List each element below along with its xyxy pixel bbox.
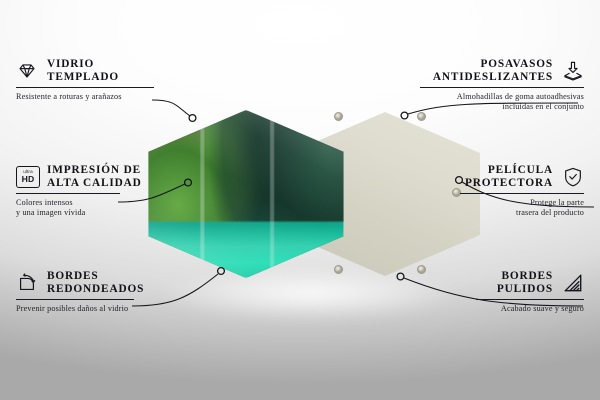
feature-rounded-edges[interactable]: BORDESREDONDEADOS Prevenir posibles daño… <box>16 270 134 314</box>
feature-head: BORDESREDONDEADOS <box>16 270 134 295</box>
badge-hd-label: HD <box>22 175 35 184</box>
feature-desc: Prevenir posibles daños al vidrio <box>16 304 134 314</box>
feature-desc: Colores intensos y una imagen vívida <box>16 198 120 218</box>
glass-print-surface <box>148 110 344 278</box>
shield-check-icon <box>562 166 584 188</box>
feature-desc: Protege la parte trasera del producto <box>460 198 584 218</box>
feature-desc: Resistente a roturas y arañazos <box>16 92 154 102</box>
product-front-panel <box>148 110 344 278</box>
feature-title: BORDESREDONDEADOS <box>47 270 144 295</box>
feature-nonslip-coasters[interactable]: POSAVASOSANTIDESLIZANTES Almohadillas de… <box>420 58 584 113</box>
feature-title: VIDRIOTEMPLADO <box>47 58 119 83</box>
lagoon-photo <box>148 110 344 278</box>
feature-desc: Almohadillas de goma autoadhesivas inclu… <box>420 92 584 112</box>
feature-desc: Acabado suave y seguro <box>476 304 584 314</box>
leader-line-left-3 <box>132 274 218 306</box>
feature-rule <box>16 299 134 300</box>
feature-polished-edges[interactable]: BORDESPULIDOS Acabado suave y seguro <box>476 270 584 314</box>
feature-rule <box>16 193 120 194</box>
feature-title: PELÍCULAPROTECTORA <box>465 164 553 189</box>
ultra-hd-badge-icon: ultra HD <box>16 166 38 188</box>
feature-head: VIDRIOTEMPLADO <box>16 58 154 83</box>
feature-rule <box>460 193 584 194</box>
feature-hd-print[interactable]: ultra HD IMPRESIÓN DEALTA CALIDAD Colore… <box>16 164 120 219</box>
rounded-corner-icon <box>16 272 38 294</box>
infographic-canvas: VIDRIOTEMPLADO Resistente a roturas y ar… <box>0 0 600 400</box>
press-pad-icon <box>562 60 584 82</box>
feature-head: ultra HD IMPRESIÓN DEALTA CALIDAD <box>16 164 120 189</box>
feature-rule <box>476 299 584 300</box>
feature-title: POSAVASOSANTIDESLIZANTES <box>433 58 553 83</box>
feature-title: IMPRESIÓN DEALTA CALIDAD <box>47 164 142 189</box>
rubber-pad <box>417 112 426 121</box>
feature-head: POSAVASOSANTIDESLIZANTES <box>420 58 584 83</box>
feature-protective-film[interactable]: PELÍCULAPROTECTORA Protege la parte tras… <box>460 164 584 219</box>
feature-title: BORDESPULIDOS <box>497 270 553 295</box>
feature-head: PELÍCULAPROTECTORA <box>460 164 584 189</box>
diamond-icon <box>16 60 38 82</box>
feature-head: BORDESPULIDOS <box>476 270 584 295</box>
feature-rule <box>16 87 154 88</box>
feature-rule <box>420 87 584 88</box>
rubber-pad <box>417 265 426 274</box>
polished-edge-icon <box>562 272 584 294</box>
feature-tempered-glass[interactable]: VIDRIOTEMPLADO Resistente a roturas y ar… <box>16 58 154 102</box>
